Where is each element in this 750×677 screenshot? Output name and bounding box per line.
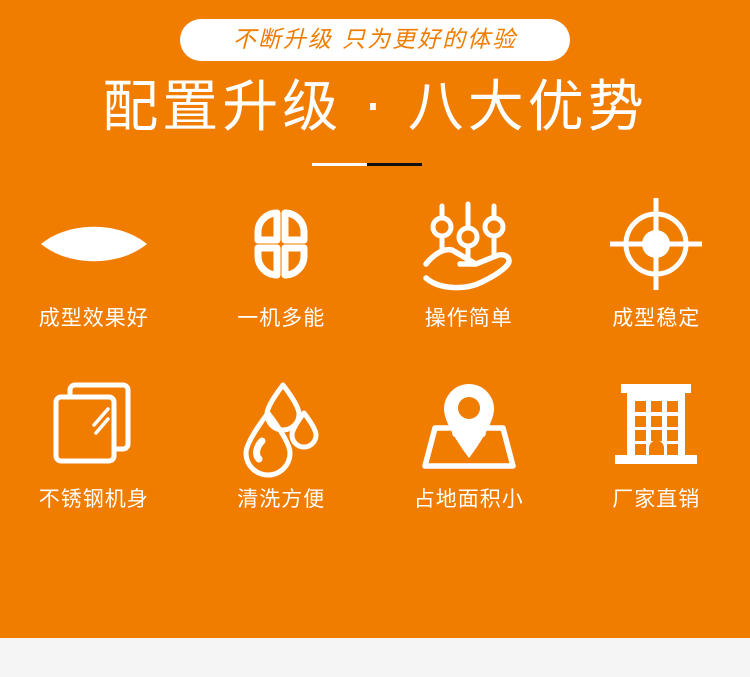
page-title: 配置升级 · 八大优势 <box>0 76 750 140</box>
title-divider <box>312 163 422 166</box>
feature-label: 占地面积小 <box>414 489 524 510</box>
map-pin-icon <box>421 377 517 473</box>
feature-label: 厂家直销 <box>612 489 700 510</box>
feature-label: 操作简单 <box>425 308 513 329</box>
factory-building-icon <box>608 377 704 473</box>
banner-pill: 不断升级 只为更好的体验 <box>180 19 570 61</box>
feature-item-molding-effect: 成型效果好 <box>0 196 188 329</box>
hand-sliders-icon <box>421 196 517 292</box>
bottom-strip <box>0 638 750 677</box>
divider-segment-light <box>312 163 367 166</box>
feature-item-small-footprint: 占地面积小 <box>375 377 563 510</box>
feature-item-easy-operation: 操作简单 <box>375 196 563 329</box>
feature-label: 不锈钢机身 <box>39 489 149 510</box>
feature-label: 清洗方便 <box>237 489 325 510</box>
feature-label: 一机多能 <box>237 308 325 329</box>
feature-label: 成型效果好 <box>39 308 149 329</box>
feature-item-stainless-body: 不锈钢机身 <box>0 377 188 510</box>
feature-grid: 成型效果好 一机多能 <box>0 196 750 510</box>
feature-item-multifunction: 一机多能 <box>188 196 376 329</box>
lens-shape-icon <box>46 196 142 292</box>
four-petals-icon <box>233 196 329 292</box>
promo-poster: 不断升级 只为更好的体验 配置升级 · 八大优势 成型效果好 <box>0 0 750 638</box>
feature-item-easy-cleaning: 清洗方便 <box>188 377 376 510</box>
banner-text: 不断升级 只为更好的体验 <box>233 29 517 52</box>
feature-label: 成型稳定 <box>612 308 700 329</box>
water-droplets-icon <box>233 377 329 473</box>
feature-row-1: 成型效果好 一机多能 <box>0 196 750 329</box>
feature-item-stable-molding: 成型稳定 <box>563 196 750 329</box>
stacked-panels-icon <box>46 377 142 473</box>
crosshair-target-icon <box>608 196 704 292</box>
feature-row-2: 不锈钢机身 清洗方便 <box>0 377 750 510</box>
divider-segment-dark <box>367 163 422 166</box>
feature-item-factory-direct: 厂家直销 <box>563 377 750 510</box>
